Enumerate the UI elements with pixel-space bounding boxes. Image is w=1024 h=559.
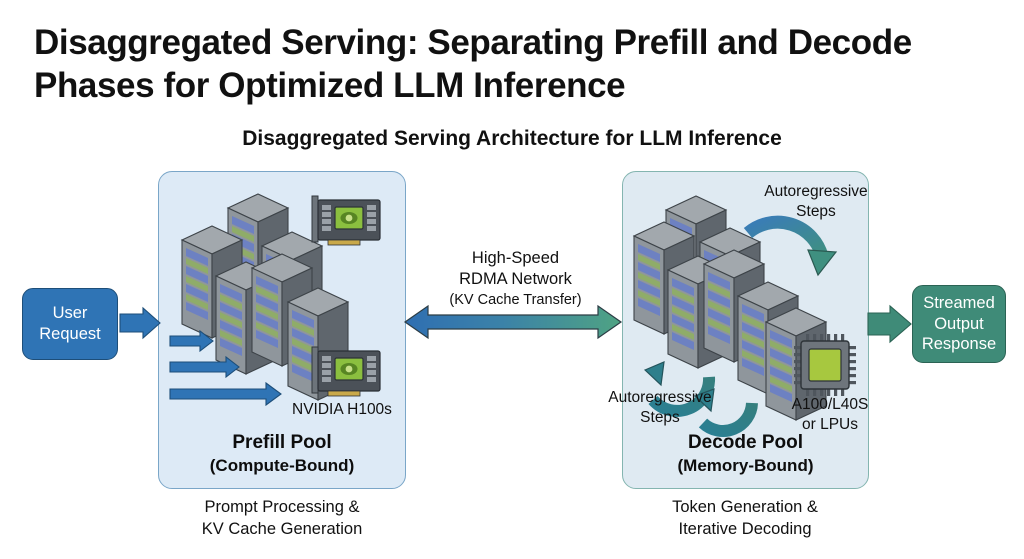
page-title: Disaggregated Serving: Separating Prefil… bbox=[34, 22, 994, 107]
nvidia-h100s-label: NVIDIA H100s bbox=[292, 400, 412, 420]
prefill-pool-title-sub: (Compute-Bound) bbox=[158, 456, 406, 476]
decode-pool-title-sub: (Memory-Bound) bbox=[622, 456, 869, 476]
prefill-caption-line1: Prompt Processing & bbox=[152, 497, 412, 519]
autoregressive-top-line2: Steps bbox=[748, 202, 884, 222]
prefill-pool-caption: Prompt Processing & KV Cache Generation bbox=[152, 497, 412, 541]
decode-caption-line1: Token Generation & bbox=[615, 497, 875, 519]
accelerator-hardware-label: A100/L40S or LPUs bbox=[778, 395, 882, 435]
decode-pool-title: Decode Pool (Memory-Bound) bbox=[622, 432, 869, 476]
autoregressive-bottom-line1: Autoregressive bbox=[598, 388, 722, 408]
streamed-output-line1: Streamed bbox=[922, 293, 996, 314]
autoregressive-steps-label-bottom: Autoregressive Steps bbox=[598, 388, 722, 428]
user-request-line2: Request bbox=[39, 324, 100, 345]
streamed-output-line3: Response bbox=[922, 334, 996, 355]
accelerator-label-line1: A100/L40S bbox=[778, 395, 882, 415]
prefill-pool-title-main: Prefill Pool bbox=[158, 432, 406, 454]
autoregressive-top-line1: Autoregressive bbox=[748, 182, 884, 202]
rdma-label-line3: (KV Cache Transfer) bbox=[408, 291, 623, 310]
rdma-label-line1: High-Speed bbox=[408, 248, 623, 269]
user-request-line1: User bbox=[39, 303, 100, 324]
user-request-arrow bbox=[120, 308, 160, 338]
prefill-pool-title: Prefill Pool (Compute-Bound) bbox=[158, 432, 406, 476]
prefill-caption-line2: KV Cache Generation bbox=[152, 519, 412, 541]
streamed-output-line2: Output bbox=[922, 314, 996, 335]
streamed-output-arrow bbox=[868, 306, 911, 342]
decode-pool-caption: Token Generation & Iterative Decoding bbox=[615, 497, 875, 541]
autoregressive-steps-label-top: Autoregressive Steps bbox=[748, 182, 884, 222]
diagram-canvas: Disaggregated Serving: Separating Prefil… bbox=[0, 0, 1024, 559]
autoregressive-bottom-line2: Steps bbox=[598, 408, 722, 428]
decode-pool-title-main: Decode Pool bbox=[622, 432, 869, 454]
user-request-box[interactable]: User Request bbox=[22, 288, 118, 360]
streamed-output-box[interactable]: Streamed Output Response bbox=[912, 285, 1006, 363]
rdma-network-label: High-Speed RDMA Network (KV Cache Transf… bbox=[408, 248, 623, 310]
rdma-bidirectional-arrow bbox=[405, 306, 621, 338]
decode-caption-line2: Iterative Decoding bbox=[615, 519, 875, 541]
diagram-title: Disaggregated Serving Architecture for L… bbox=[0, 127, 1024, 151]
rdma-label-line2: RDMA Network bbox=[408, 269, 623, 290]
